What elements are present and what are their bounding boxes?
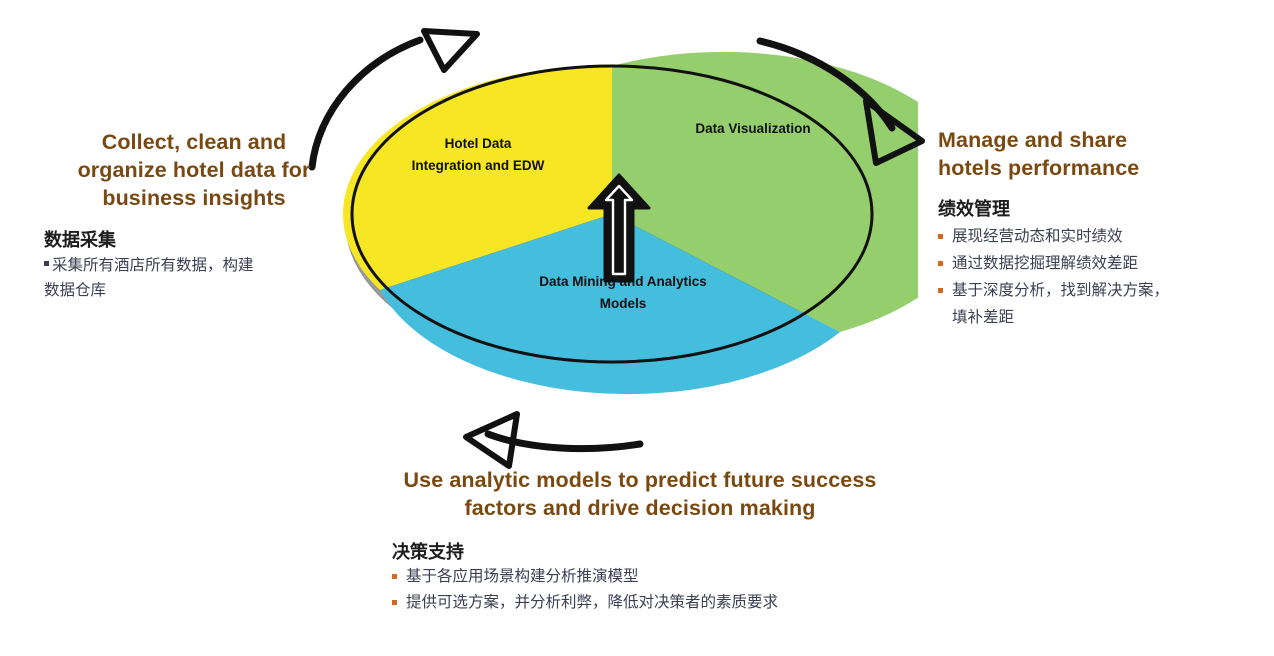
bottom-en-line-1: Use analytic models to predict future su… xyxy=(330,466,950,494)
left-en-line-1: Collect, clean and xyxy=(44,128,344,156)
left-cn-line-1: 采集所有酒店所有数据，构建 xyxy=(44,253,344,278)
segment-label-data-mining-1: Data Mining and Analytics xyxy=(539,274,707,289)
diagram-canvas: Hotel Data Integration and EDW Data Visu… xyxy=(0,0,1274,656)
left-en-line-2: organize hotel data for xyxy=(44,156,344,184)
square-bullet-icon xyxy=(44,261,49,266)
square-bullet-icon xyxy=(392,600,397,605)
list-item: 通过数据挖掘理解绩效差距 xyxy=(938,251,1268,276)
right-en-line-2: hotels performance xyxy=(938,154,1268,182)
segment-label-data-visualization: Data Visualization xyxy=(695,121,810,136)
bottom-bullet-2: 提供可选方案，并分析利弊，降低对决策者的素质要求 xyxy=(406,590,778,615)
curved-arrow-left-icon-head xyxy=(466,414,517,466)
left-cn-line-1-text: 采集所有酒店所有数据，构建 xyxy=(52,257,254,274)
right-callout: Manage and share hotels performance 绩效管理… xyxy=(938,126,1268,330)
left-en-line-3: business insights xyxy=(44,184,344,212)
list-item: 展现经营动态和实时绩效 xyxy=(938,224,1268,249)
segment-label-hotel-data-1: Hotel Data xyxy=(445,136,512,151)
list-item: 基于深度分析，找到解决方案， xyxy=(938,278,1268,303)
bottom-en-heading: Use analytic models to predict future su… xyxy=(330,466,950,522)
bottom-callout: Use analytic models to predict future su… xyxy=(330,466,950,616)
right-en-line-1: Manage and share xyxy=(938,126,1268,154)
bottom-cn-block: 决策支持 基于各应用场景构建分析推演模型 提供可选方案，并分析利弊，降低对决策者… xyxy=(330,540,950,615)
curved-arrow-left-icon-tail xyxy=(488,434,640,449)
segment-label-hotel-data-2: Integration and EDW xyxy=(412,158,545,173)
list-item: 提供可选方案，并分析利弊，降低对决策者的素质要求 xyxy=(392,590,950,615)
square-bullet-icon xyxy=(392,574,397,579)
right-en-heading: Manage and share hotels performance xyxy=(938,126,1268,182)
right-bullet-1: 展现经营动态和实时绩效 xyxy=(952,224,1123,249)
left-cn-heading: 数据采集 xyxy=(44,228,344,252)
bottom-cn-heading: 决策支持 xyxy=(392,540,950,564)
square-bullet-icon xyxy=(938,234,943,239)
list-item: 基于各应用场景构建分析推演模型 xyxy=(392,564,950,589)
right-bullet-3: 基于深度分析，找到解决方案， xyxy=(952,278,1169,303)
bottom-bullet-list: 基于各应用场景构建分析推演模型 提供可选方案，并分析利弊，降低对决策者的素质要求 xyxy=(392,564,950,615)
square-bullet-icon xyxy=(938,261,943,266)
right-cn-heading: 绩效管理 xyxy=(938,197,1268,221)
bottom-en-line-2: factors and drive decision making xyxy=(330,494,950,522)
bottom-bullet-1: 基于各应用场景构建分析推演模型 xyxy=(406,564,639,589)
right-bullet-list: 展现经营动态和实时绩效 通过数据挖掘理解绩效差距 基于深度分析，找到解决方案， … xyxy=(938,224,1268,330)
left-callout: Collect, clean and organize hotel data f… xyxy=(44,128,344,303)
segment-label-data-mining-2: Models xyxy=(600,296,647,311)
right-bullet-3-continuation: 填补差距 xyxy=(938,305,1268,330)
square-bullet-icon xyxy=(938,288,943,293)
left-cn-body: 采集所有酒店所有数据，构建 数据仓库 xyxy=(44,253,344,303)
right-bullet-2: 通过数据挖掘理解绩效差距 xyxy=(952,251,1138,276)
left-en-heading: Collect, clean and organize hotel data f… xyxy=(44,128,344,212)
hotel-analytics-cycle-diagram: Hotel Data Integration and EDW Data Visu… xyxy=(318,18,918,418)
left-cn-line-2: 数据仓库 xyxy=(44,278,344,303)
